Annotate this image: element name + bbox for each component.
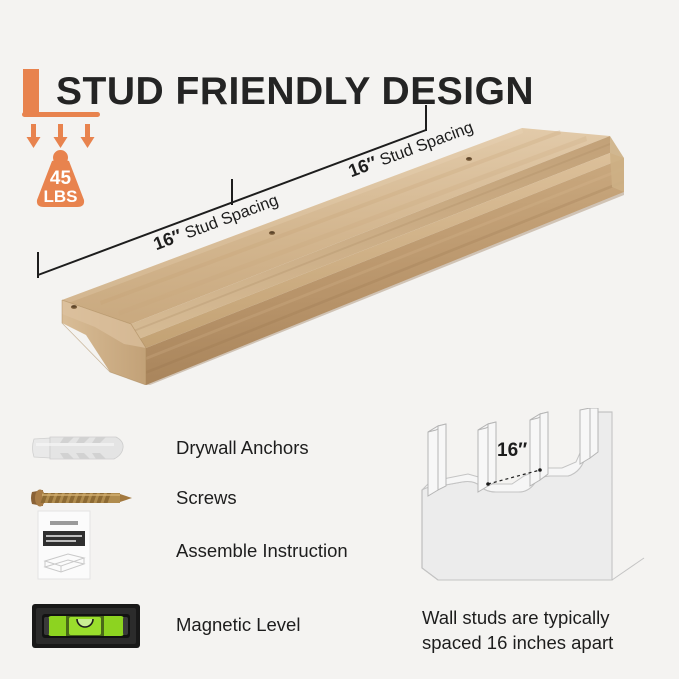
wooden-floating-shelf xyxy=(0,95,679,385)
magnetic-level-icon xyxy=(28,597,148,653)
hardware-label: Drywall Anchors xyxy=(176,420,309,476)
list-item: Magnetic Level xyxy=(28,597,388,653)
wall-stud-diagram: 16″ xyxy=(400,408,660,598)
stud-caption-line1: Wall studs are typically xyxy=(422,605,662,630)
wall-stud-cutaway-icon: 16″ xyxy=(400,408,660,598)
stud-dimension-label: 16″ xyxy=(497,440,527,461)
shelf-diagram: 16″ Stud Spacing 16″ Stud Spacing xyxy=(0,95,679,385)
stud-caption: Wall studs are typically spaced 16 inche… xyxy=(422,605,662,655)
instruction-manual-icon xyxy=(28,517,148,573)
stud-caption-line2: spaced 16 inches apart xyxy=(422,630,662,655)
list-item: Drywall Anchors xyxy=(28,420,388,476)
header: STUD FRIENDLY DESIGN xyxy=(0,32,679,94)
hardware-list: Drywall Anchors xyxy=(0,412,400,662)
hardware-label: Assemble Instruction xyxy=(176,523,348,579)
list-item: Assemble Instruction xyxy=(28,517,388,573)
drywall-anchor-icon xyxy=(28,420,148,476)
hardware-label: Magnetic Level xyxy=(176,597,300,653)
